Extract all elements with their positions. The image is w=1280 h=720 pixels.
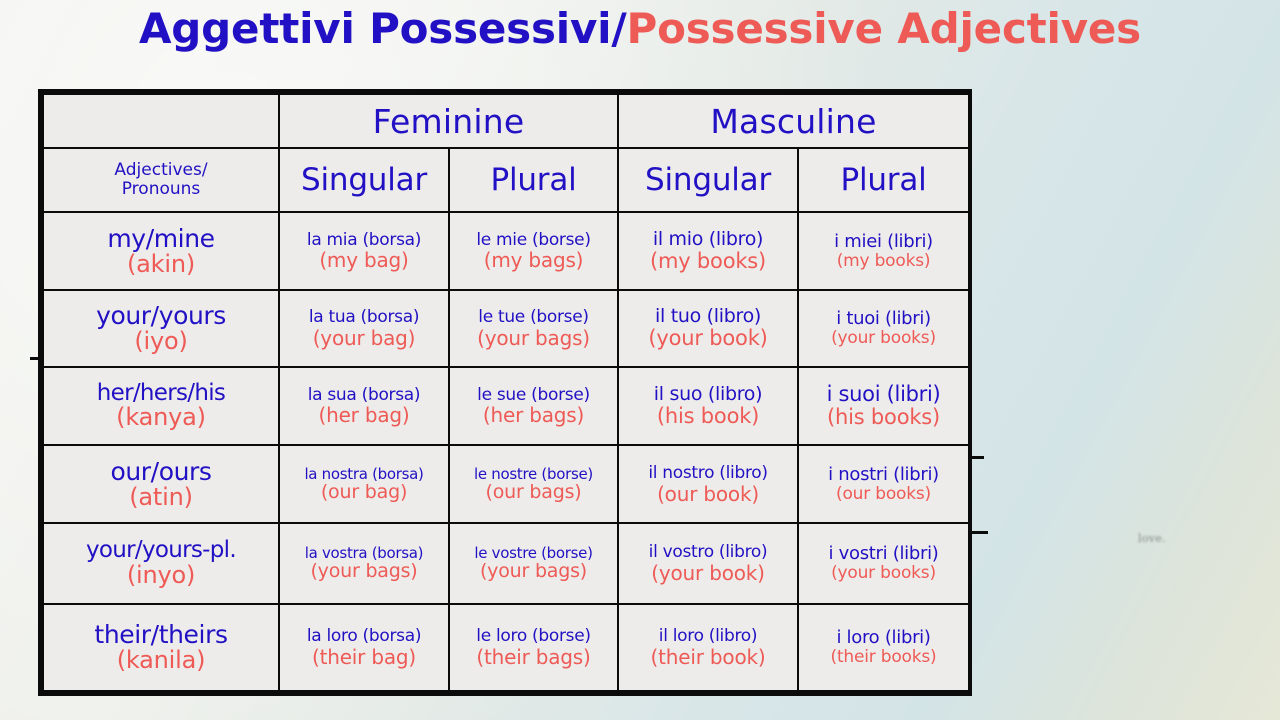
cell-italian: le mie (borse) (452, 231, 615, 250)
cell-italian: il vostro (libro) (621, 543, 795, 562)
cell-masc-sg: il loro (libro) (their book) (618, 604, 798, 691)
person-tagalog: (kanya) (46, 405, 276, 431)
person-english: my/mine (46, 225, 276, 252)
table-row: your/yours-pl. (inyo) la vostra (borsa) … (43, 523, 969, 603)
cell-english: (his book) (621, 405, 795, 428)
cell-italian: il nostro (libro) (621, 464, 795, 483)
header-feminine-plural: Plural (449, 148, 618, 212)
person-tagalog: (inyo) (46, 563, 276, 589)
person-tagalog: (kanila) (46, 648, 276, 674)
person-english: your/yours (46, 302, 276, 329)
cell-italian: le loro (borse) (452, 627, 615, 646)
person-english: her/hers/his (46, 381, 276, 406)
header-feminine: Feminine (279, 94, 618, 148)
cell-masc-sg: il mio (libro) (my books) (618, 212, 798, 289)
cell-masc-pl: i suoi (libri) (his books) (798, 367, 969, 445)
cell-italian: le tue (borse) (452, 308, 615, 327)
row-person-your-sg: your/yours (iyo) (43, 290, 279, 367)
cell-masc-sg: il tuo (libro) (your book) (618, 290, 798, 367)
cell-masc-pl: i tuoi (libri) (your books) (798, 290, 969, 367)
header-masculine-plural: Plural (798, 148, 969, 212)
header-masculine-singular: Singular (618, 148, 798, 212)
header-feminine-singular: Singular (279, 148, 449, 212)
cell-english: (my bags) (452, 249, 615, 271)
cell-fem-sg: la tua (borsa) (your bag) (279, 290, 449, 367)
table-row: their/theirs (kanila) la loro (borsa) (t… (43, 604, 969, 691)
cell-english: (their bag) (282, 646, 446, 668)
cell-english: (your book) (621, 327, 795, 350)
table-header-gender-row: Feminine Masculine (43, 94, 969, 148)
cell-italian: il mio (libro) (621, 229, 795, 250)
row-person-your-pl: your/yours-pl. (inyo) (43, 523, 279, 603)
cell-english: (your bags) (452, 561, 615, 582)
cell-fem-pl: le sue (borse) (her bags) (449, 367, 618, 445)
cell-masc-pl: i miei (libri) (my books) (798, 212, 969, 289)
cell-masc-pl: i loro (libri) (their books) (798, 604, 969, 691)
header-masculine: Masculine (618, 94, 969, 148)
cell-english: (his books) (801, 406, 966, 429)
cell-italian: i nostri (libri) (801, 465, 966, 485)
person-tagalog: (atin) (46, 485, 276, 511)
cell-italian: i loro (libri) (801, 628, 966, 648)
cell-italian: la sua (borsa) (282, 386, 446, 405)
table-corner-blank-cell (43, 94, 279, 148)
person-tagalog: (akin) (46, 252, 276, 278)
background-artifact-text: love. (1138, 532, 1166, 545)
cell-english: (her bag) (282, 404, 446, 426)
cell-fem-pl: le mie (borse) (my bags) (449, 212, 618, 289)
person-tagalog: (iyo) (46, 329, 276, 355)
table-row: our/ours (atin) la nostra (borsa) (our b… (43, 445, 969, 523)
row-person-my: my/mine (akin) (43, 212, 279, 289)
cell-italian: la vostra (borsa) (282, 545, 446, 562)
cell-masc-sg: il nostro (libro) (our book) (618, 445, 798, 523)
cell-fem-sg: la loro (borsa) (their bag) (279, 604, 449, 691)
cell-english: (our bag) (282, 482, 446, 503)
cell-masc-sg: il suo (libro) (his book) (618, 367, 798, 445)
cell-english: (your bags) (282, 561, 446, 582)
rule-overshoot-left-upper (30, 357, 40, 360)
cell-italian: le sue (borse) (452, 386, 615, 405)
cell-masc-sg: il vostro (libro) (your book) (618, 523, 798, 603)
table-header-number-row: Adjectives/ Pronouns Singular Plural Sin… (43, 148, 969, 212)
grid: Feminine Masculine Adjectives/ Pronouns … (42, 93, 970, 692)
row-person-our: our/ours (atin) (43, 445, 279, 523)
page-title-italian: Aggettivi Possessivi/ (139, 4, 627, 53)
cell-italian: il loro (libro) (621, 627, 795, 646)
cell-italian: i suoi (libri) (801, 383, 966, 406)
person-english: our/ours (46, 458, 276, 485)
cell-italian: le nostre (borse) (452, 466, 615, 483)
header-adjectives-pronouns: Adjectives/ Pronouns (43, 148, 279, 212)
rule-overshoot-right-lower (968, 531, 988, 534)
row-person-her-his: her/hers/his (kanya) (43, 367, 279, 445)
cell-english: (my bag) (282, 249, 446, 271)
rule-overshoot-right-mid (968, 456, 984, 459)
table-row: my/mine (akin) la mia (borsa) (my bag) l… (43, 212, 969, 289)
cell-italian: le vostre (borse) (452, 545, 615, 562)
table-row: your/yours (iyo) la tua (borsa) (your ba… (43, 290, 969, 367)
cell-italian: la tua (borsa) (282, 308, 446, 327)
page-title-english: Possessive Adjectives (627, 4, 1141, 53)
table-row: her/hers/his (kanya) la sua (borsa) (her… (43, 367, 969, 445)
person-english: your/yours-pl. (46, 538, 276, 563)
cell-english: (your book) (621, 562, 795, 584)
cell-fem-sg: la sua (borsa) (her bag) (279, 367, 449, 445)
cell-english: (their book) (621, 646, 795, 668)
cell-masc-pl: i vostri (libri) (your books) (798, 523, 969, 603)
cell-fem-pl: le tue (borse) (your bags) (449, 290, 618, 367)
cell-masc-pl: i nostri (libri) (our books) (798, 445, 969, 523)
header-adjectives-pronouns-line1: Adjectives/ (114, 160, 207, 180)
cell-english: (your bags) (452, 327, 615, 349)
cell-english: (her bags) (452, 404, 615, 426)
cell-italian: la mia (borsa) (282, 231, 446, 250)
cell-fem-sg: la vostra (borsa) (your bags) (279, 523, 449, 603)
cell-english: (your books) (801, 564, 966, 583)
cell-italian: il tuo (libro) (621, 306, 795, 327)
cell-english: (their books) (801, 648, 966, 667)
cell-english: (our bags) (452, 482, 615, 503)
cell-english: (your books) (801, 329, 966, 348)
cell-english: (our books) (801, 485, 966, 504)
person-english: their/theirs (46, 621, 276, 648)
row-person-their: their/theirs (kanila) (43, 604, 279, 691)
cell-english: (your bag) (282, 327, 446, 349)
page-title: Aggettivi Possessivi/Possessive Adjectiv… (0, 4, 1280, 53)
cell-english: (our book) (621, 483, 795, 505)
cell-fem-pl: le vostre (borse) (your bags) (449, 523, 618, 603)
cell-fem-pl: le loro (borse) (their bags) (449, 604, 618, 691)
possessive-adjectives-table: Feminine Masculine Adjectives/ Pronouns … (38, 89, 972, 696)
cell-italian: i miei (libri) (801, 232, 966, 252)
cell-italian: i tuoi (libri) (801, 309, 966, 329)
cell-italian: il suo (libro) (621, 384, 795, 405)
cell-italian: i vostri (libri) (801, 544, 966, 564)
cell-italian: la nostra (borsa) (282, 466, 446, 483)
cell-english: (my books) (621, 250, 795, 273)
cell-fem-pl: le nostre (borse) (our bags) (449, 445, 618, 523)
header-adjectives-pronouns-line2: Pronouns (122, 179, 201, 199)
cell-fem-sg: la mia (borsa) (my bag) (279, 212, 449, 289)
cell-fem-sg: la nostra (borsa) (our bag) (279, 445, 449, 523)
cell-italian: la loro (borsa) (282, 627, 446, 646)
cell-english: (my books) (801, 252, 966, 271)
cell-english: (their bags) (452, 646, 615, 668)
